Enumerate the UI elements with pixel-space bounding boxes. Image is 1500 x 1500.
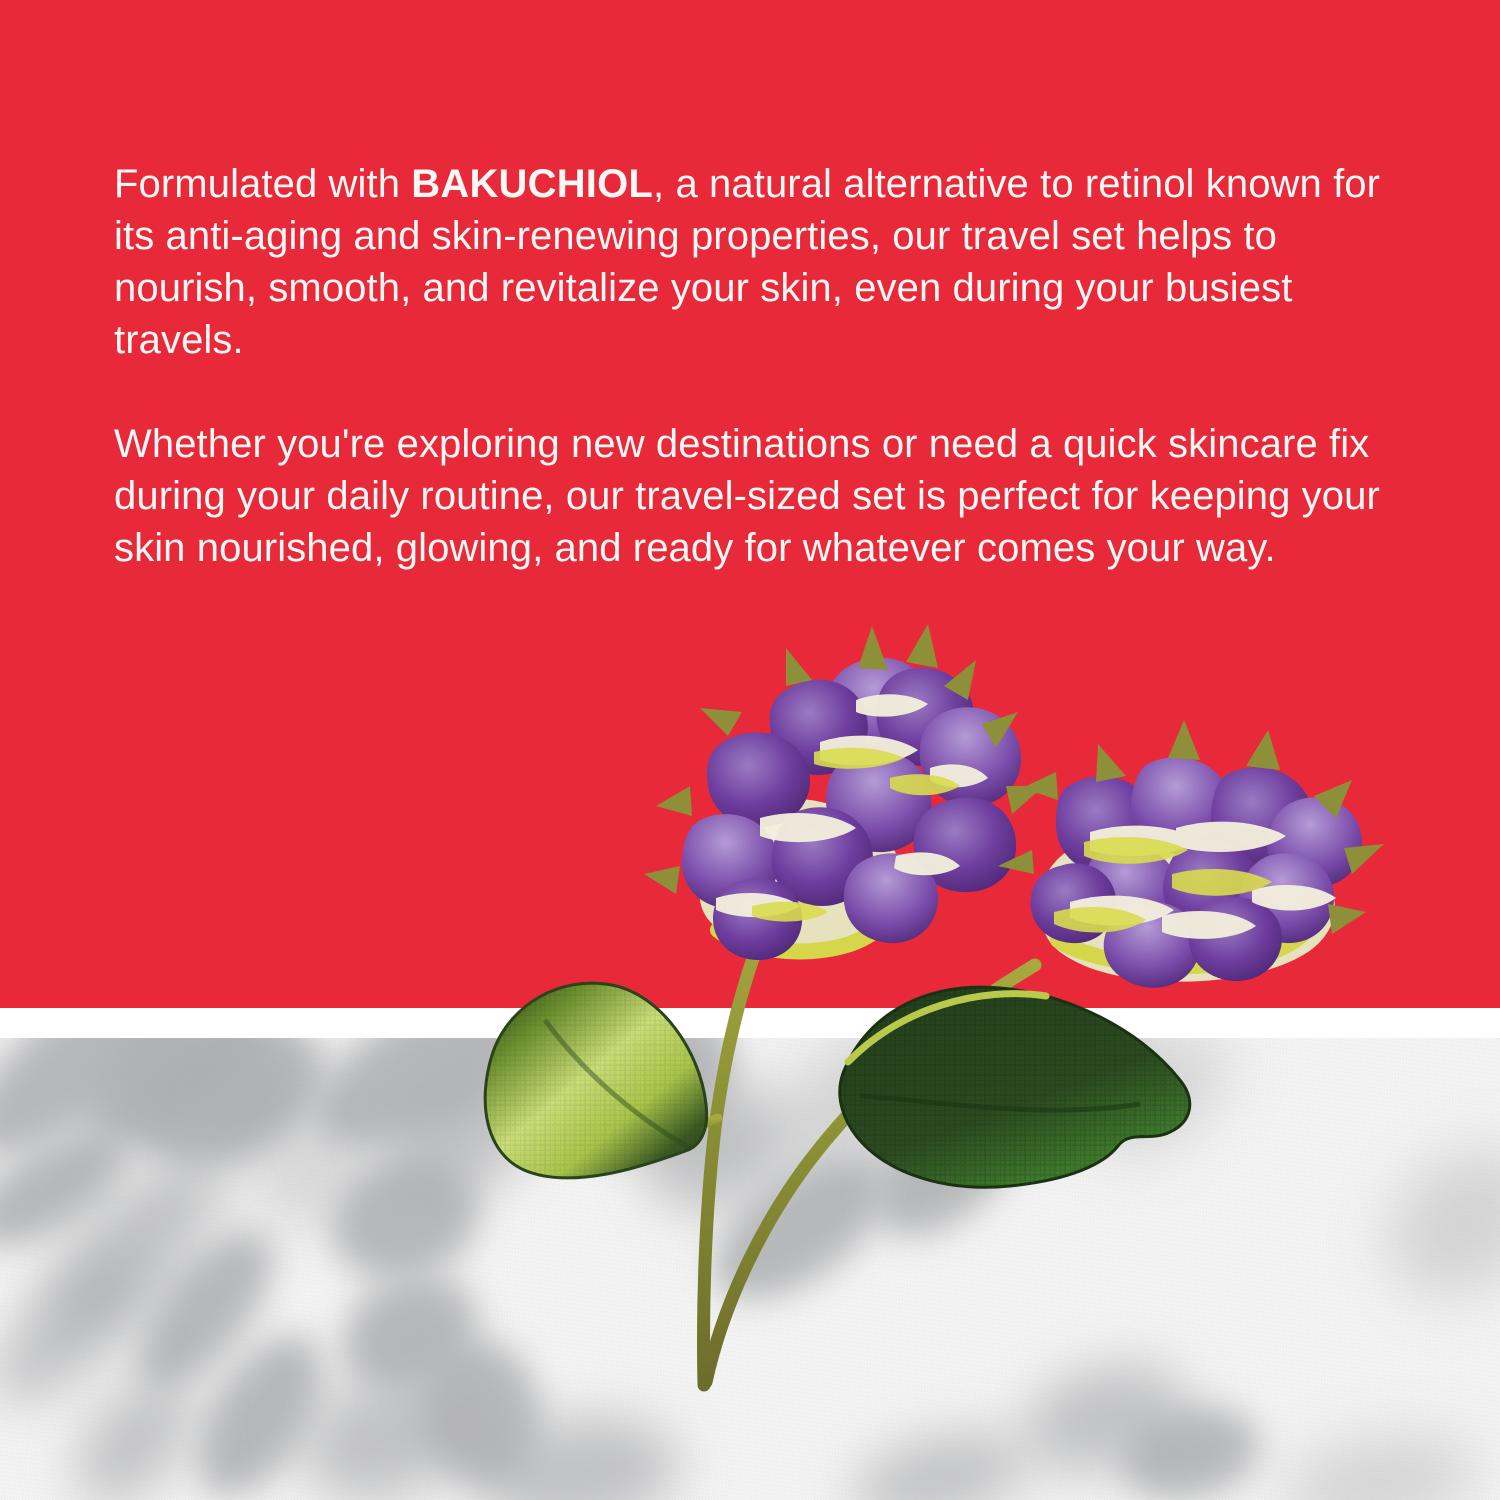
leaf-shadow-blob [1274,1421,1487,1500]
wall-photo-backdrop [0,1038,1500,1500]
product-description-poster: Formulated with BAKUCHIOL, a natural alt… [0,0,1500,1500]
marketing-copy-block: Formulated with BAKUCHIOL, a natural alt… [114,158,1404,574]
paragraph-one: Formulated with BAKUCHIOL, a natural alt… [114,158,1404,366]
leaf-shadow-blob [1358,1119,1500,1328]
bakuchiol-highlight: BAKUCHIOL [411,162,653,206]
leaf-shadow-blob [843,1417,1037,1500]
paragraph-two: Whether you're exploring new destination… [114,418,1404,574]
white-separator-band [0,1008,1500,1038]
paragraph-one-lead: Formulated with [114,162,411,206]
